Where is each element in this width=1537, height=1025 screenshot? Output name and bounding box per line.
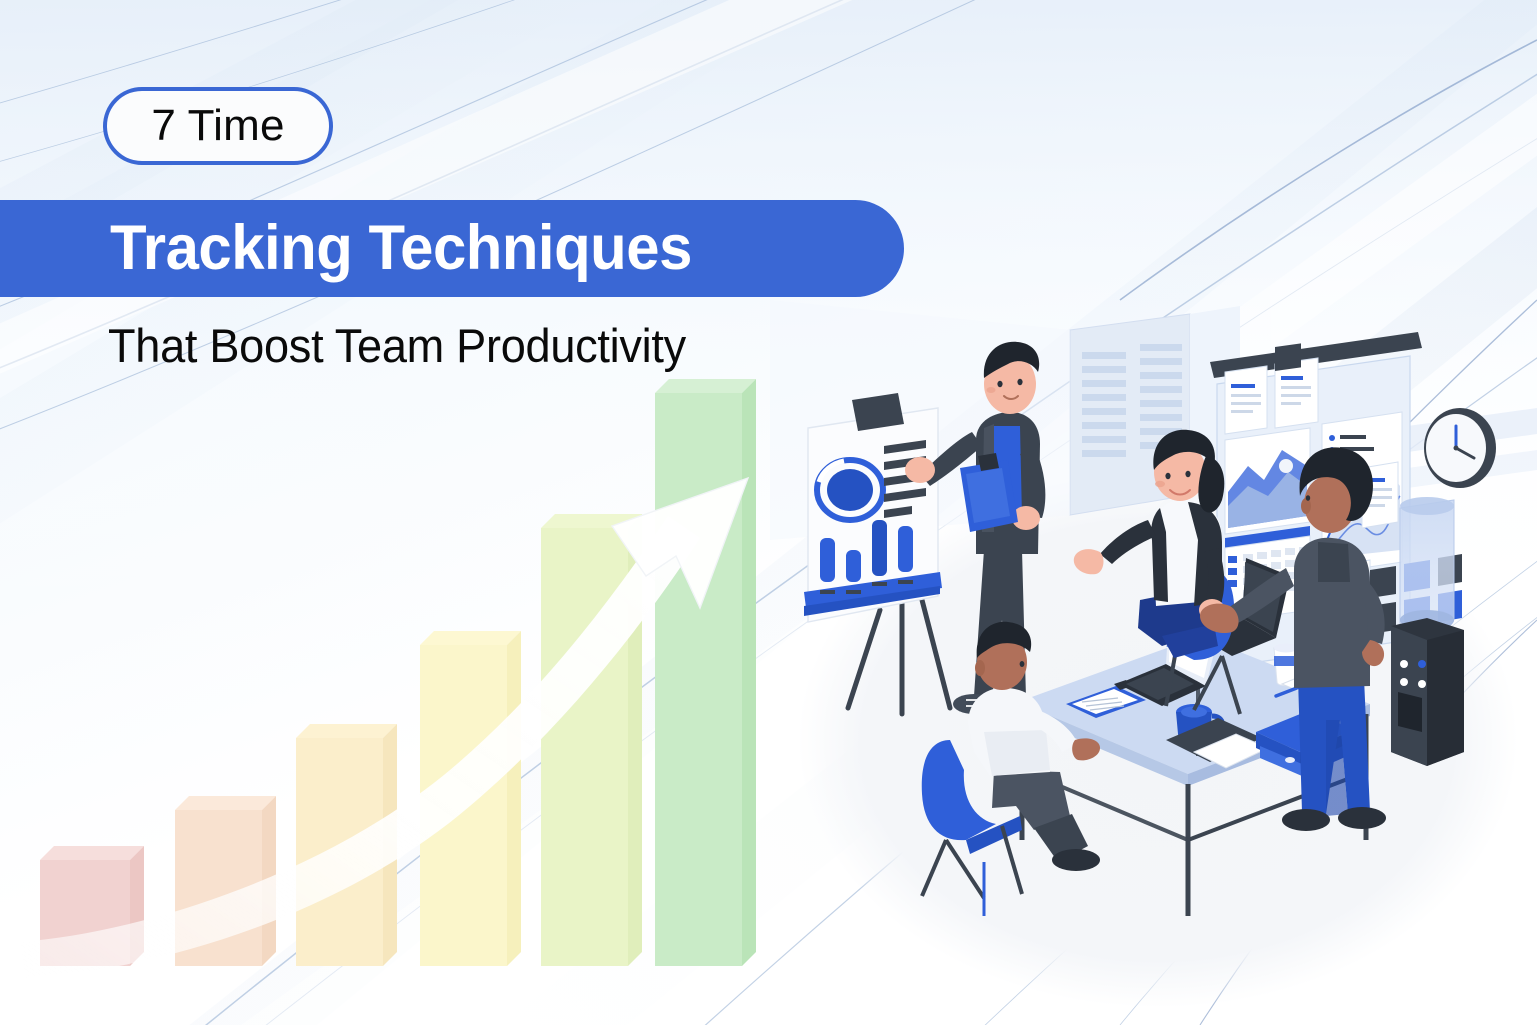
count-badge[interactable]: 7 Time xyxy=(103,87,333,165)
title-banner-label: Tracking Techniques xyxy=(110,217,692,280)
growth-chart-svg xyxy=(0,330,830,990)
office-team-illustration xyxy=(770,300,1537,1025)
title-banner: Tracking Techniques xyxy=(0,200,904,297)
subtitle-text: That Boost Team Productivity xyxy=(108,318,686,373)
count-badge-label: 7 Time xyxy=(151,104,284,148)
presenter-hand xyxy=(905,457,935,483)
poster-canvas: 7 Time Tracking Techniques That Boost Te… xyxy=(0,0,1537,1025)
ear xyxy=(1301,498,1311,514)
growth-bar-chart-illustration xyxy=(0,330,830,990)
water-cooler xyxy=(1391,497,1464,766)
board-doc-left xyxy=(1225,366,1267,434)
shoe xyxy=(1052,849,1100,871)
board-area-chart xyxy=(1225,428,1310,534)
office-scene-svg xyxy=(770,300,1537,1025)
bars-group xyxy=(40,379,756,966)
bar-6 xyxy=(655,379,756,966)
wall-clock-icon xyxy=(1424,408,1496,488)
shoe xyxy=(1282,809,1330,831)
shoe xyxy=(1338,807,1386,829)
board-dark-card xyxy=(1275,343,1301,371)
